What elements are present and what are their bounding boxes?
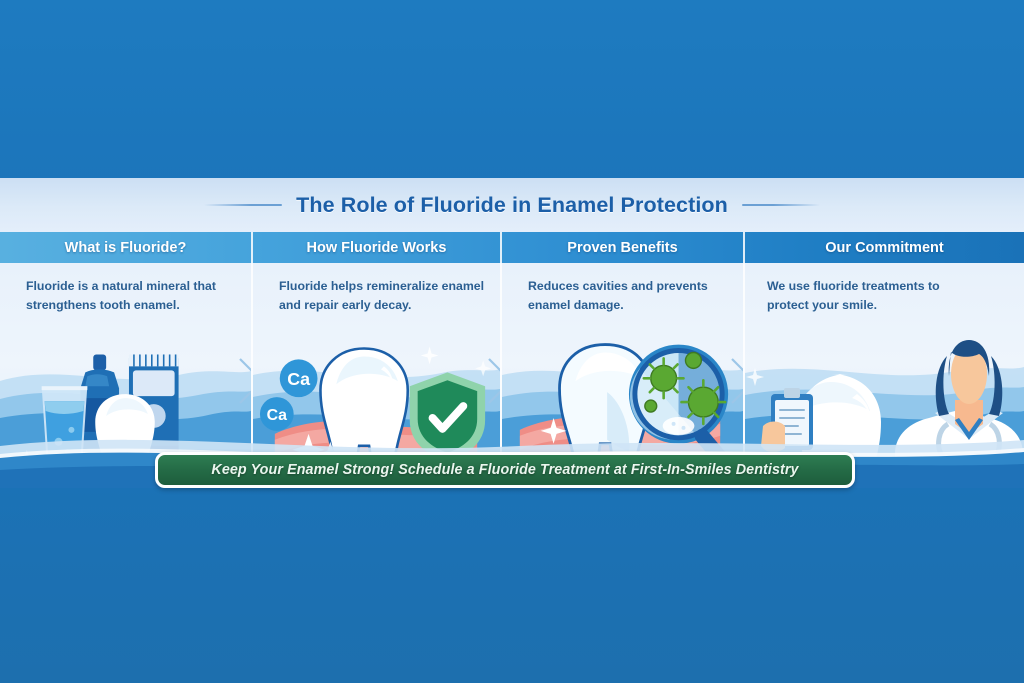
title-rule-right [742,204,820,206]
column-header-band: What is Fluoride? How Fluoride Works Pro… [0,232,1024,263]
page-title: The Role of Fluoride in Enamel Protectio… [296,193,728,218]
infographic-panel: The Role of Fluoride in Enamel Protectio… [0,178,1024,488]
column-description-how-fluoride-works: Fluoride helps remineralize enamel and r… [279,277,489,315]
calcium-label-2: Ca [267,407,287,424]
column-heading-what-is-fluoride[interactable]: What is Fluoride? [0,232,253,263]
column-heading-how-fluoride-works[interactable]: How Fluoride Works [253,232,502,263]
title-rule-left [204,204,282,206]
calcium-label-1: Ca [287,369,311,389]
column-description-our-commitment: We use fluoride treatments to protect yo… [767,277,957,315]
cta-banner[interactable]: Keep Your Enamel Strong! Schedule a Fluo… [155,452,855,488]
column-heading-our-commitment[interactable]: Our Commitment [745,232,1024,263]
title-strip: The Role of Fluoride in Enamel Protectio… [0,178,1024,232]
column-description-what-is-fluoride: Fluoride is a natural mineral that stren… [26,277,236,315]
cta-text: Keep Your Enamel Strong! Schedule a Fluo… [211,462,798,478]
column-heading-proven-benefits[interactable]: Proven Benefits [502,232,745,263]
column-description-proven-benefits: Reduces cavities and prevents enamel dam… [528,277,738,315]
